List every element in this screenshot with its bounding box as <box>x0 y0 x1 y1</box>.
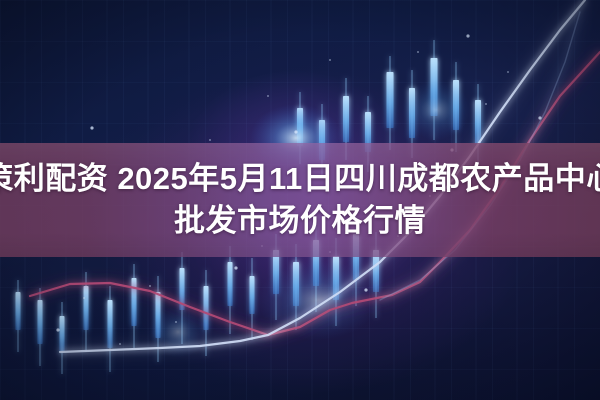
banner-title-line-1: 策利配资 2025年5月11日四川成都农产品中心 <box>0 158 600 200</box>
title-banner-band: 策利配资 2025年5月11日四川成都农产品中心 批发市场价格行情 <box>0 143 600 257</box>
thumbnail-banner-image: 策利配资 2025年5月11日四川成都农产品中心 批发市场价格行情 <box>0 0 600 400</box>
banner-title-line-2: 批发市场价格行情 <box>174 200 426 242</box>
